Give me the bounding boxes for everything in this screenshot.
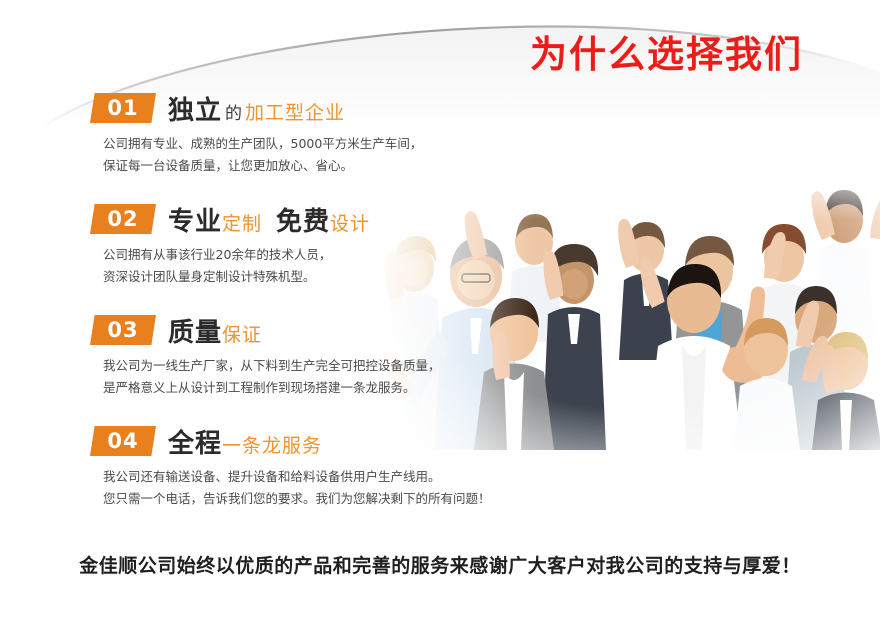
- feature-body: 公司拥有专业、成熟的生产团队，5000平方米生产车间， 保证每一台设备质量，让您…: [90, 133, 510, 177]
- feature-list: 01 独立 的 加工型企业 公司拥有专业、成熟的生产团队，5000平方米生产车间…: [90, 92, 510, 536]
- feature-title-mid: 的: [225, 99, 242, 124]
- feature-heading: 03 质量 保证: [90, 314, 510, 346]
- page-title: 为什么选择我们: [530, 24, 803, 78]
- feature-body: 我公司还有输送设备、提升设备和给料设备供用户生产线用。 您只需一个电话，告诉我们…: [90, 466, 510, 510]
- feature-title-accent: 定制: [222, 209, 262, 236]
- feature-body-line: 我公司为一线生产厂家，从下料到生产完全可把控设备质量，: [103, 355, 510, 377]
- feature-item-03: 03 质量 保证 我公司为一线生产厂家，从下料到生产完全可把控设备质量， 是严格…: [90, 314, 510, 399]
- feature-title: 质量 保证: [168, 312, 262, 349]
- feature-body-line: 资深设计团队量身定制设计特殊机型。: [103, 266, 510, 288]
- feature-body-line: 是严格意义上从设计到工程制作到现场搭建一条龙服务。: [103, 377, 510, 399]
- feature-body-line: 我公司还有输送设备、提升设备和给料设备供用户生产线用。: [103, 466, 510, 488]
- feature-heading: 02 专业 定制 免费 设计: [90, 203, 510, 235]
- badge-number: 03: [90, 315, 156, 345]
- feature-title: 独立 的 加工型企业: [168, 90, 345, 127]
- number-badge-01: 01: [90, 93, 156, 123]
- number-badge-02: 02: [90, 204, 156, 234]
- feature-title-strong: 独立: [168, 90, 222, 127]
- feature-title: 专业 定制 免费 设计: [168, 201, 370, 238]
- footer-tagline: 金佳顺公司始终以优质的产品和完善的服务来感谢广大客户对我公司的支持与厚爱！: [0, 551, 880, 578]
- number-badge-03: 03: [90, 315, 156, 345]
- feature-title: 全程 一条龙服务: [168, 423, 322, 460]
- feature-title-strong-2: 免费: [276, 201, 330, 238]
- feature-item-04: 04 全程 一条龙服务 我公司还有输送设备、提升设备和给料设备供用户生产线用。 …: [90, 425, 510, 510]
- badge-number: 01: [90, 93, 156, 123]
- badge-number: 04: [90, 426, 156, 456]
- number-badge-04: 04: [90, 426, 156, 456]
- feature-title-accent: 保证: [222, 320, 262, 347]
- feature-item-01: 01 独立 的 加工型企业 公司拥有专业、成熟的生产团队，5000平方米生产车间…: [90, 92, 510, 177]
- feature-title-strong: 质量: [168, 312, 222, 349]
- feature-body-line: 您只需一个电话，告诉我们您的要求。我们为您解决剩下的所有问题！: [103, 488, 510, 510]
- feature-item-02: 02 专业 定制 免费 设计 公司拥有从事该行业20余年的技术人员， 资深设计团…: [90, 203, 510, 288]
- feature-body: 公司拥有从事该行业20余年的技术人员， 资深设计团队量身定制设计特殊机型。: [90, 244, 510, 288]
- feature-title-accent: 一条龙服务: [222, 431, 322, 458]
- feature-title-accent: 加工型企业: [245, 98, 345, 125]
- badge-number: 02: [90, 204, 156, 234]
- promo-banner: 为什么选择我们: [0, 0, 880, 626]
- feature-body: 我公司为一线生产厂家，从下料到生产完全可把控设备质量， 是严格意义上从设计到工程…: [90, 355, 510, 399]
- feature-title-strong: 专业: [168, 201, 222, 238]
- feature-body-line: 保证每一台设备质量，让您更加放心、省心。: [103, 155, 510, 177]
- feature-title-accent-2: 设计: [330, 209, 370, 236]
- feature-title-strong: 全程: [168, 423, 222, 460]
- feature-body-line: 公司拥有从事该行业20余年的技术人员，: [103, 244, 510, 266]
- feature-heading: 01 独立 的 加工型企业: [90, 92, 510, 124]
- feature-heading: 04 全程 一条龙服务: [90, 425, 510, 457]
- feature-body-line: 公司拥有专业、成熟的生产团队，5000平方米生产车间，: [103, 133, 510, 155]
